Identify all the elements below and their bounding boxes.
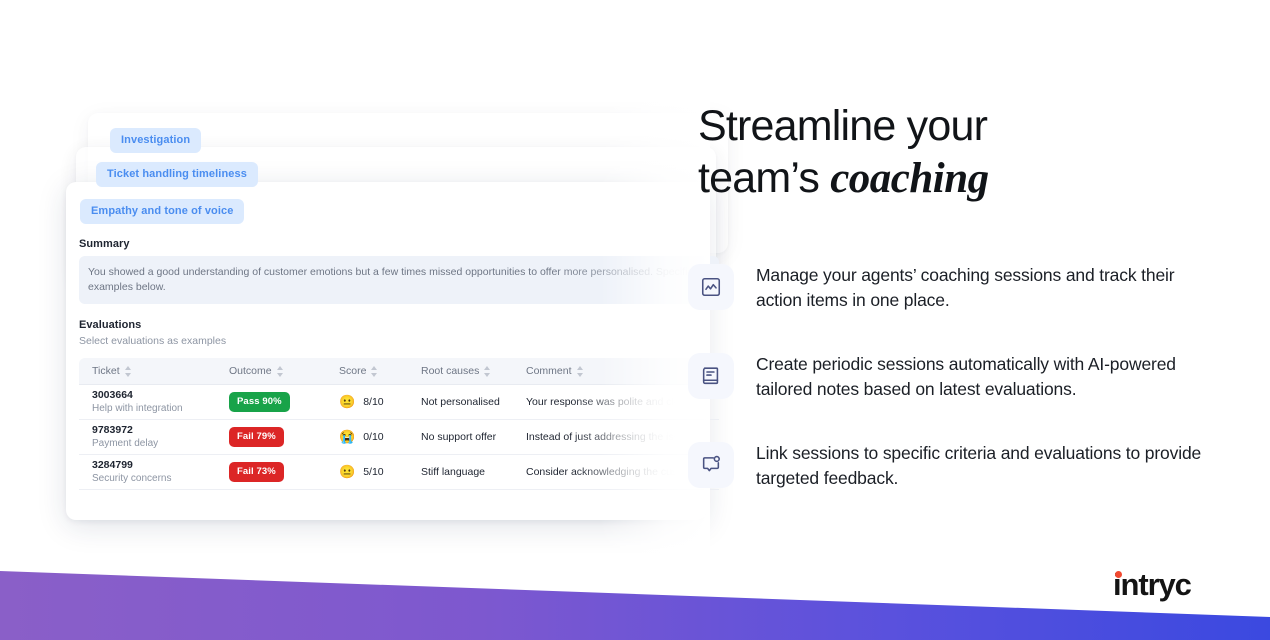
- logo-wordmark: intryc: [1113, 568, 1191, 602]
- page-title: Streamline your team’s coaching: [698, 100, 1198, 205]
- cell-root-cause: Not personalised: [421, 385, 526, 420]
- cell-root-cause: Stiff language: [421, 455, 526, 490]
- evaluations-heading: Evaluations: [79, 319, 141, 331]
- status-badge: Fail 79%: [229, 427, 284, 447]
- cell-ticket: 3284799 Security concerns: [79, 455, 229, 490]
- criteria-chip-empathy-and-tone-of-voice[interactable]: Empathy and tone of voice: [80, 199, 244, 224]
- cell-outcome: Fail 79%: [229, 420, 339, 455]
- sort-icon[interactable]: [277, 366, 284, 377]
- column-header-ticket-label: Ticket: [92, 365, 120, 377]
- product-screenshot-stack: Investigation Ticket handling timeliness…: [0, 0, 680, 560]
- summary-text: You showed a good understanding of custo…: [88, 265, 708, 295]
- cell-root-cause: No support offer: [421, 420, 526, 455]
- column-header-score-label: Score: [339, 365, 366, 377]
- ticket-subject: Security concerns: [92, 472, 229, 485]
- feature-item-link-sessions: Link sessions to specific criteria and e…: [688, 440, 1208, 491]
- cell-score: 😭 0/10: [339, 420, 421, 455]
- headline-line-2-plain: team’s: [698, 154, 830, 202]
- ticket-id: 3003664: [92, 389, 229, 402]
- ticket-id: 3284799: [92, 459, 229, 472]
- status-badge: Fail 73%: [229, 462, 284, 482]
- column-header-root-causes-label: Root causes: [421, 365, 479, 377]
- score-value: 5/10: [363, 466, 383, 478]
- score-emoji-icon: 😐: [339, 465, 355, 478]
- evaluations-table: Ticket Outcome Score: [79, 358, 719, 490]
- criteria-chip-ticket-handling-timeliness[interactable]: Ticket handling timeliness: [96, 162, 258, 187]
- cell-ticket: 9783972 Payment delay: [79, 420, 229, 455]
- ticket-subject: Payment delay: [92, 437, 229, 450]
- score-emoji-icon: 😐: [339, 395, 355, 408]
- cell-outcome: Pass 90%: [229, 385, 339, 420]
- sort-icon[interactable]: [371, 366, 378, 377]
- feature-item-manage-sessions: Manage your agents’ coaching sessions an…: [688, 262, 1208, 313]
- ticket-subject: Help with integration: [92, 402, 229, 415]
- column-header-comment-label: Comment: [526, 365, 572, 377]
- sort-icon[interactable]: [484, 366, 491, 377]
- evaluations-subheading: Select evaluations as examples: [79, 335, 226, 347]
- column-header-outcome-label: Outcome: [229, 365, 272, 377]
- feature-item-periodic-sessions: Create periodic sessions automatically w…: [688, 351, 1208, 402]
- column-header-outcome[interactable]: Outcome: [229, 358, 339, 385]
- headline-line-1: Streamline your: [698, 102, 987, 150]
- sort-icon[interactable]: [125, 366, 132, 377]
- headline-accent-word: coaching: [830, 155, 988, 202]
- logo-text: intryc: [1113, 567, 1191, 602]
- chart-box-icon: [688, 264, 734, 310]
- marketing-banner: Investigation Ticket handling timeliness…: [0, 0, 1270, 640]
- message-notification-icon: [688, 442, 734, 488]
- table-row[interactable]: 3003664 Help with integration Pass 90% 😐…: [79, 385, 719, 420]
- table-header-row: Ticket Outcome Score: [79, 358, 719, 385]
- column-header-root-causes[interactable]: Root causes: [421, 358, 526, 385]
- table-row[interactable]: 9783972 Payment delay Fail 79% 😭 0/10 No…: [79, 420, 719, 455]
- cell-score: 😐 5/10: [339, 455, 421, 490]
- feature-text: Manage your agents’ coaching sessions an…: [756, 262, 1208, 313]
- cell-outcome: Fail 73%: [229, 455, 339, 490]
- score-value: 0/10: [363, 431, 383, 443]
- score-emoji-icon: 😭: [339, 430, 355, 443]
- summary-heading: Summary: [79, 238, 129, 250]
- sort-icon[interactable]: [577, 366, 584, 377]
- feature-text: Link sessions to specific criteria and e…: [756, 440, 1208, 491]
- feature-text: Create periodic sessions automatically w…: [756, 351, 1208, 402]
- criteria-chip-investigation[interactable]: Investigation: [110, 128, 201, 153]
- score-value: 8/10: [363, 396, 383, 408]
- status-badge: Pass 90%: [229, 392, 290, 412]
- column-header-ticket[interactable]: Ticket: [79, 358, 229, 385]
- logo-dot-icon: [1115, 571, 1122, 578]
- cell-ticket: 3003664 Help with integration: [79, 385, 229, 420]
- feature-list: Manage your agents’ coaching sessions an…: [688, 262, 1208, 529]
- book-icon: [688, 353, 734, 399]
- brand-logo: intryc: [1113, 568, 1191, 602]
- table-row[interactable]: 3284799 Security concerns Fail 73% 😐 5/1…: [79, 455, 719, 490]
- ticket-id: 9783972: [92, 424, 229, 437]
- column-header-score[interactable]: Score: [339, 358, 421, 385]
- cell-score: 😐 8/10: [339, 385, 421, 420]
